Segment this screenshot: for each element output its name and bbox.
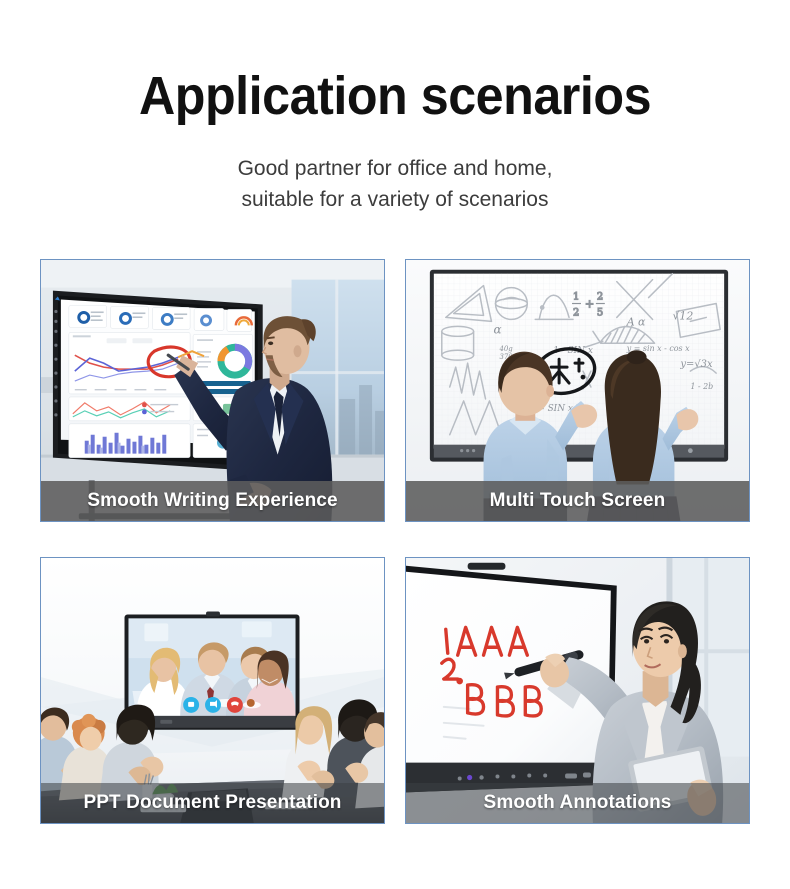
card-caption-bar: Smooth Writing Experience (41, 481, 384, 521)
card-caption-bar: PPT Document Presentation (41, 783, 384, 823)
svg-text:40g: 40g (498, 345, 513, 353)
card-caption-text: Smooth Annotations (484, 792, 672, 814)
scenario-card-multi-touch[interactable]: α A α 1 - SIN x y = sin x - cos x 40g 37… (405, 259, 750, 522)
svg-text:y=√3x: y=√3x (679, 359, 713, 370)
page-title: Application scenarios (28, 68, 763, 125)
scenario-card-ppt-presentation[interactable]: PPT Document Presentation (40, 557, 385, 824)
scenario-card-smooth-writing[interactable]: Smooth Writing Experience (40, 259, 385, 522)
svg-text:A α: A α (626, 315, 646, 328)
scenario-card-grid: Smooth Writing Experience (40, 259, 750, 824)
subtitle-line-1: Good partner for office and home, (0, 153, 790, 184)
card-caption-text: PPT Document Presentation (84, 792, 342, 814)
card-caption-text: Multi Touch Screen (490, 490, 666, 512)
svg-text:5: 5 (597, 307, 603, 318)
svg-text:2: 2 (597, 292, 603, 303)
svg-text:1: 1 (573, 292, 579, 303)
svg-text:√12: √12 (672, 309, 693, 322)
svg-text:2: 2 (573, 307, 579, 318)
application-scenarios-page: Application scenarios Good partner for o… (0, 0, 790, 889)
card-caption-bar: Smooth Annotations (406, 783, 749, 823)
subtitle-line-2: suitable for a variety of scenarios (0, 184, 790, 215)
scenario-card-smooth-annotations[interactable]: Smooth Annotations (405, 557, 750, 824)
svg-text:α: α (493, 322, 501, 336)
svg-text:1 - 2b: 1 - 2b (690, 382, 713, 391)
card-caption-bar: Multi Touch Screen (406, 481, 749, 521)
svg-text:+: + (585, 297, 594, 310)
page-header: Application scenarios Good partner for o… (0, 0, 790, 215)
page-subtitle: Good partner for office and home, suitab… (0, 125, 790, 215)
card-caption-text: Smooth Writing Experience (87, 490, 337, 512)
